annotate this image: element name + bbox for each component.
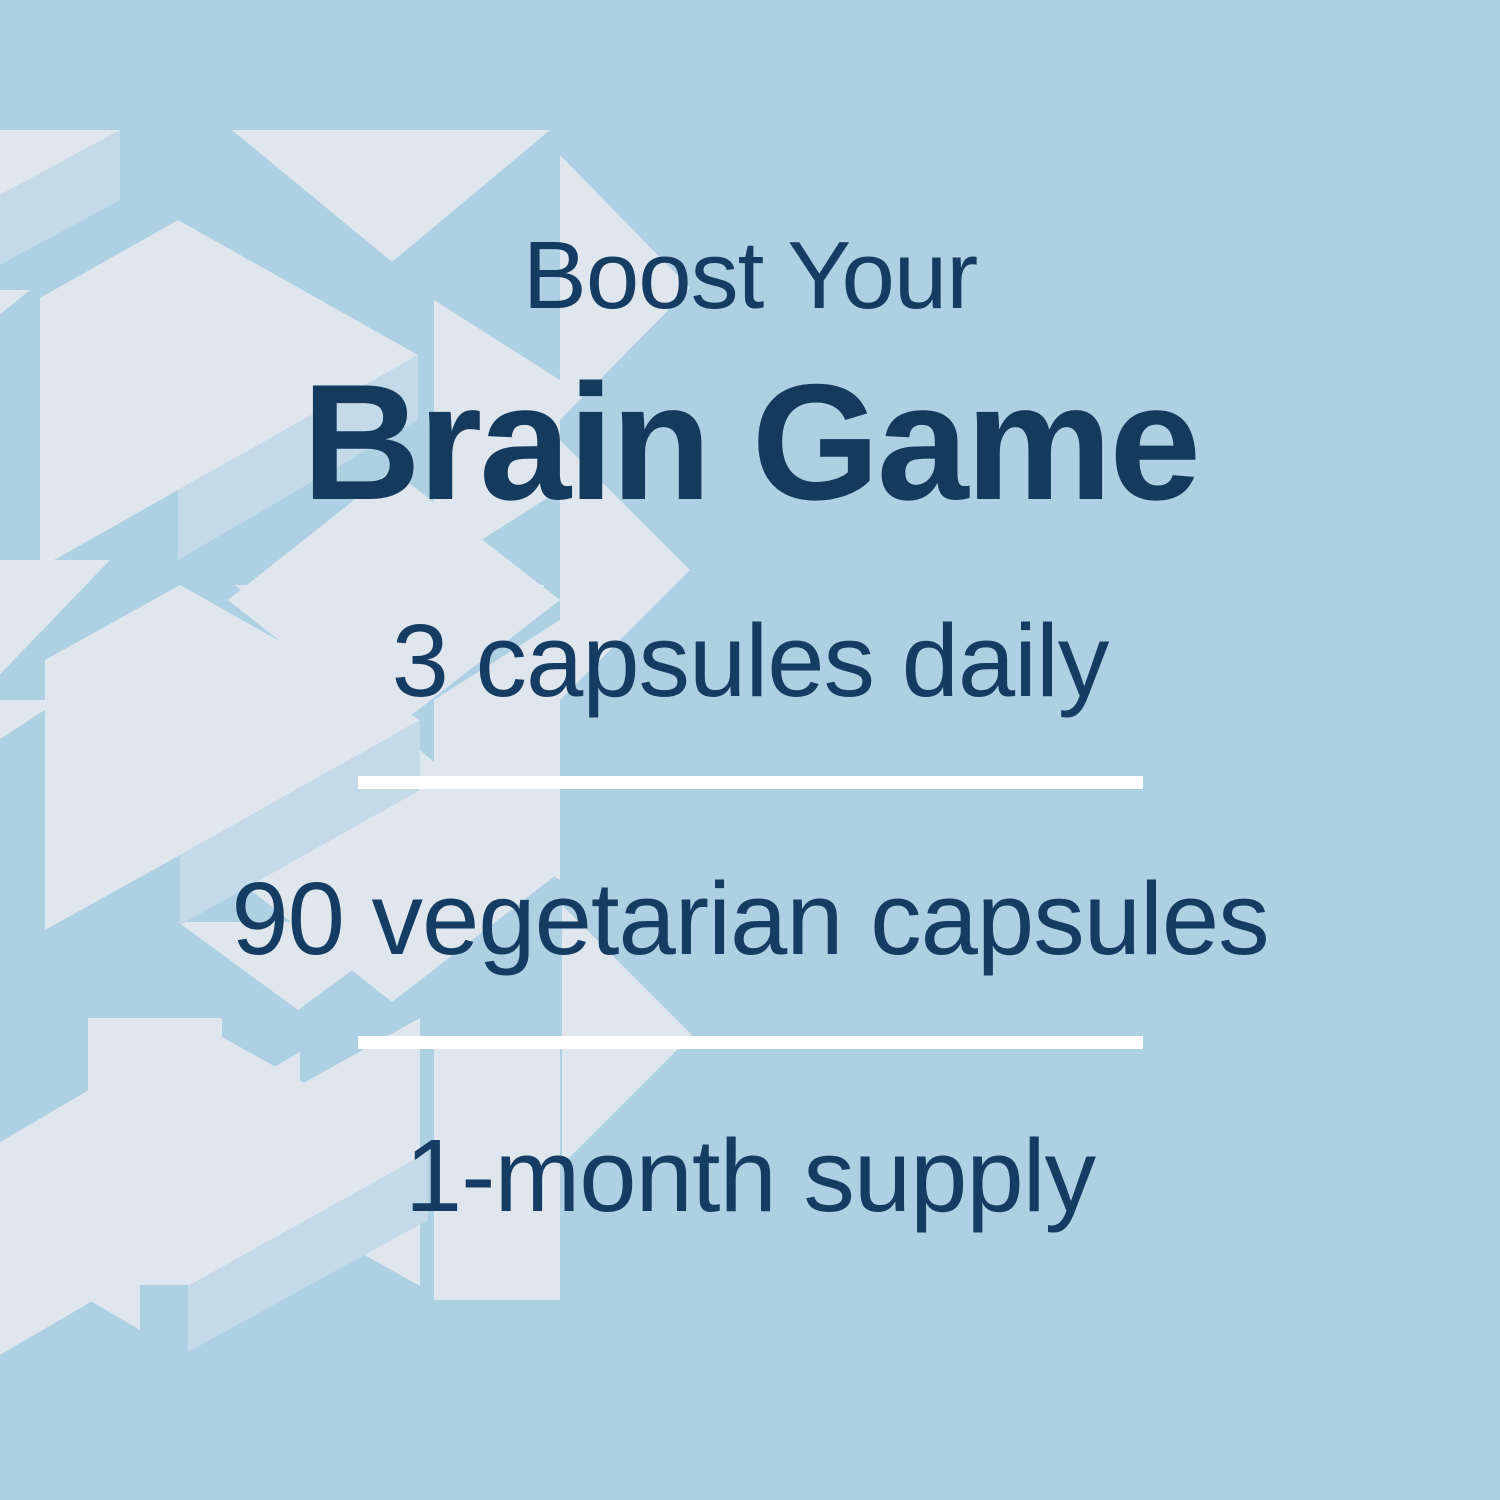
feature-count: 90 vegetarian capsules bbox=[231, 867, 1268, 970]
divider-2 bbox=[358, 1036, 1143, 1049]
promo-graphic: Boost Your Brain Game 3 capsules daily 9… bbox=[0, 0, 1500, 1500]
feature-supply: 1-month supply bbox=[405, 1124, 1095, 1227]
divider-1 bbox=[358, 776, 1143, 789]
page-title: Brain Game bbox=[302, 360, 1198, 525]
feature-dosage: 3 capsules daily bbox=[392, 609, 1109, 712]
eyebrow-text: Boost Your bbox=[523, 228, 977, 324]
content-stack: Boost Your Brain Game 3 capsules daily 9… bbox=[0, 0, 1500, 1500]
